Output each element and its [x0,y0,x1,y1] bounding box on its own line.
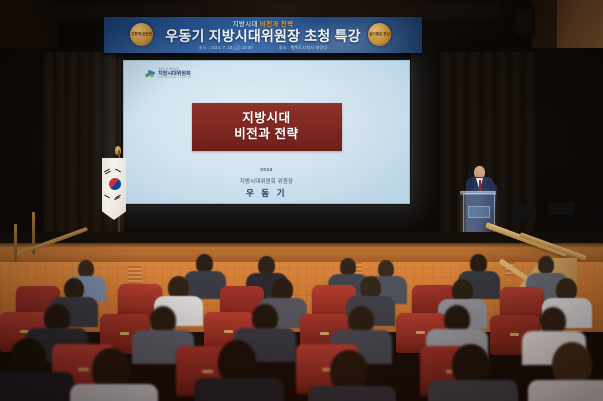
slide-speaker-role: 지방시대위원회 위원장 [124,177,409,185]
stage-curtain-left [44,52,124,252]
seat-number-tag [320,332,329,335]
seat-number-tag [224,330,233,333]
banner-info-row: 일시 : 2024. 7. 19.(금) 15:00 장소 : 행복도시청사 대… [104,45,422,51]
banner-medallion-left: 고향에 온든한 [130,23,153,46]
projection-screen: 대한민국 지방시대 지방시대위원회 PRESIDENTIAL COMMITTEE… [123,60,410,204]
seat-number-tag [120,332,129,335]
podium-front-plate [468,206,490,218]
audience-shoulders [194,378,284,401]
slide-title-line1: 지방시대 [192,111,342,127]
seat-number-tag [416,331,425,334]
audience-area [0,252,603,401]
slide-speaker-name: 우 동 기 [124,187,409,199]
slide-logo: 대한민국 지방시대 지방시대위원회 PRESIDENTIAL COMMITTEE [145,69,192,79]
seat-number-tag [202,370,213,373]
stage-monitor-speaker [548,202,574,215]
projection-screen-frame: 대한민국 지방시대 지방시대위원회 PRESIDENTIAL COMMITTEE… [121,58,410,204]
audience-shoulders [528,380,603,401]
audience-shoulders [428,380,518,401]
slide-title-box: 지방시대 비전과 전략 [192,103,342,151]
audience-head [538,256,554,274]
ceiling-speaker-icon [513,6,535,36]
banner-date: 일시 : 2024. 7. 19.(금) 15:00 [199,45,253,51]
auditorium-photo: 지방시대 비전과 전략 우동기 지방시대위원장 초청 특강 일시 : 2024.… [0,0,603,401]
ceiling-beam [300,2,500,18]
slide-title-line2: 비전과 전략 [192,127,342,143]
stage-monitor-speaker [512,205,536,220]
speaker-tie [479,180,482,191]
banner-venue: 장소 : 행복도시청사 대강당 [279,45,328,51]
event-banner: 지방시대 비전과 전략 우동기 지방시대위원장 초청 특강 일시 : 2024.… [104,17,422,53]
slide-year: 2024 [124,167,409,172]
seat-number-tag [78,368,89,371]
seat-number-tag [510,333,519,336]
microphone-icon [468,173,472,177]
audience-shoulders [0,372,74,401]
committee-logo-icon [145,70,156,79]
audience-shoulders [308,386,396,401]
banner-medallion-right: 살기좋은 전남 [368,23,391,46]
slide-logo-sub: PRESIDENTIAL COMMITTEE [158,77,192,79]
audience-shoulders [70,384,158,401]
